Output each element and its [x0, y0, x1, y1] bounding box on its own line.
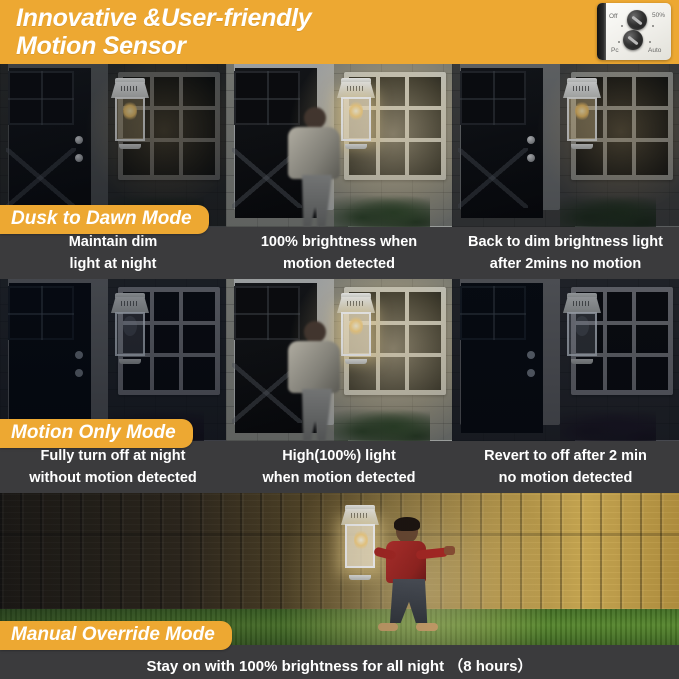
caption-dusk-to-dawn-idle: Maintain dim light at night: [0, 227, 226, 279]
mode-row-motion-only: [0, 279, 679, 441]
child-walking: [372, 519, 444, 627]
caption-motion-only-idle: Fully turn off at night without motion d…: [0, 441, 226, 493]
scene-dusk-to-dawn-triggered: [226, 64, 452, 227]
scene-dusk-to-dawn-idle: [0, 64, 226, 227]
caption-motion-only-revert: Revert to off after 2 min no motion dete…: [452, 441, 679, 493]
scene-motion-only-revert: [452, 279, 679, 441]
plate-edge: [597, 3, 606, 60]
scene-motion-only-idle: [0, 279, 226, 441]
mode-badge-dusk-to-dawn: Dusk to Dawn Mode: [0, 205, 209, 234]
switch-tick-dot: [649, 41, 651, 43]
header-banner: Innovative &User-friendly Motion Sensor …: [0, 0, 679, 64]
switch-tick-dot: [618, 41, 620, 43]
person-walking: [278, 321, 356, 441]
page-title: Innovative &User-friendly Motion Sensor: [16, 4, 311, 60]
switch-label-pc: Pc: [611, 47, 619, 54]
caption-motion-only-triggered: High(100%) light when motion detected: [226, 441, 452, 493]
switch-label-off: Off: [609, 13, 618, 20]
wall-lantern-off: [562, 293, 602, 361]
caption-strip-motion-only: Motion Only Mode Fully turn off at night…: [0, 441, 679, 493]
scene-dusk-to-dawn-revert: [452, 64, 679, 227]
switch-tick-dot: [621, 25, 623, 27]
switch-label-auto: Auto: [648, 47, 661, 54]
dial-switch-plate: Off 50% Pc Auto: [597, 3, 671, 60]
switch-tick-dot: [652, 25, 654, 27]
product-infographic: Innovative &User-friendly Motion Sensor …: [0, 0, 679, 679]
caption-dusk-to-dawn-revert: Back to dim brightness light after 2mins…: [452, 227, 679, 279]
caption-manual-override: Stay on with 100% brightness for all nig…: [147, 655, 533, 676]
wall-lantern-dim: [110, 78, 150, 146]
wall-lantern-dim: [562, 78, 602, 146]
caption-dusk-to-dawn-triggered: 100% brightness when motion detected: [226, 227, 452, 279]
dial-knob-upper[interactable]: [627, 10, 647, 30]
dial-knob-lower[interactable]: [623, 30, 643, 50]
mode-row-dusk-to-dawn: [0, 64, 679, 227]
caption-strip-manual-override: Manual Override Mode Stay on with 100% b…: [0, 645, 679, 679]
mode-badge-manual-override: Manual Override Mode: [0, 621, 232, 650]
scene-motion-only-triggered: [226, 279, 452, 441]
person-walking: [278, 107, 356, 227]
wall-lantern-off: [110, 293, 150, 361]
mode-badge-motion-only: Motion Only Mode: [0, 419, 193, 448]
caption-strip-dusk-to-dawn: Dusk to Dawn Mode Maintain dim light at …: [0, 227, 679, 279]
switch-label-50: 50%: [652, 12, 665, 19]
